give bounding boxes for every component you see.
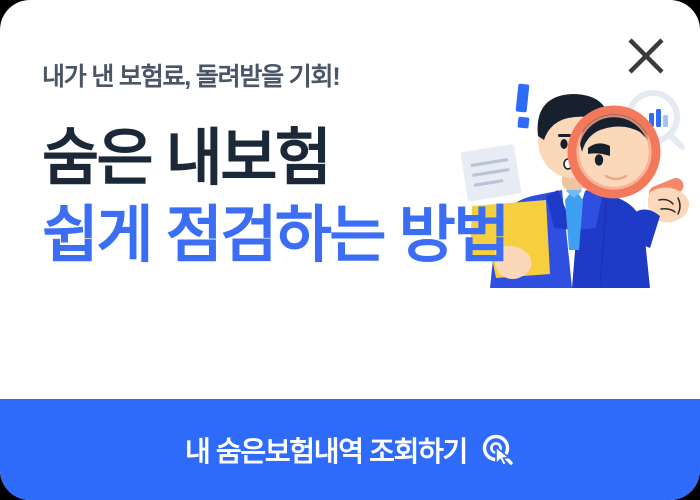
eyebrow-text: 내가 낸 보험료, 돌려받을 기회! xyxy=(42,62,508,92)
close-button[interactable] xyxy=(620,30,672,82)
close-icon[interactable] xyxy=(625,35,667,77)
cta-label: 내 숨은보험내역 조회하기 xyxy=(185,430,467,470)
headline-line-1: 숨은 내보험 xyxy=(42,126,508,191)
search-click-icon[interactable] xyxy=(481,433,515,467)
headline-line-2: 쉽게 점검하는 방법 xyxy=(42,203,508,268)
cta-button[interactable]: 내 숨은보험내역 조회하기 xyxy=(0,399,700,500)
copy-block: 내가 낸 보험료, 돌려받을 기회! 숨은 내보험 쉽게 점검하는 방법 xyxy=(42,62,508,268)
exclamation-mark-icon xyxy=(516,84,530,129)
promo-banner: 내가 낸 보험료, 돌려받을 기회! 숨은 내보험 쉽게 점검하는 방법 내 숨… xyxy=(0,0,700,500)
